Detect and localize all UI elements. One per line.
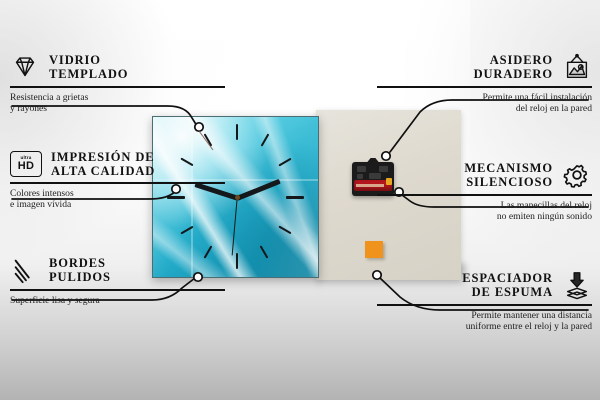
clock-tick-6 [236, 253, 238, 269]
feature-divider [377, 304, 592, 306]
feature-title-line2: DURADERO [474, 67, 553, 81]
feature-title-line1: VIDRIO [49, 53, 128, 67]
feature-title-line1: ASIDERO [474, 53, 553, 67]
feature-title-line2: PULIDOS [49, 270, 111, 284]
foam-spacer [365, 241, 383, 258]
feature-divider [10, 86, 225, 88]
feature-title-line2: DE ESPUMA [462, 285, 553, 299]
feature-title-line2: TEMPLADO [49, 67, 128, 81]
feature-desc-line2: no emiten ningún sonido [377, 211, 592, 222]
feature-espaciador-de-espuma[interactable]: ESPACIADOR DE ESPUMA Permite mantener un… [377, 270, 592, 332]
feature-title-line1: MECANISMO [464, 161, 553, 175]
feature-desc-line2: uniforme entre el reloj y la pared [377, 321, 592, 332]
feature-divider [10, 289, 225, 291]
feature-title-line2: SILENCIOSO [464, 175, 553, 189]
mechanism-notch-a [357, 166, 366, 172]
feature-title-line2: ALTA CALIDAD [51, 164, 155, 178]
clock-tick-3 [286, 196, 304, 199]
feature-desc-line1: Colores intensos [10, 188, 225, 199]
feature-desc-line1: Las manecillas del reloj [377, 200, 592, 211]
clock-tick-12 [236, 124, 238, 140]
feature-divider [10, 182, 225, 184]
feature-title-line1: ESPACIADOR [462, 271, 553, 285]
feature-bordes-pulidos[interactable]: BORDES PULIDOS Superficie lisa y segura [10, 255, 225, 306]
diamond-icon [10, 52, 40, 82]
mechanism-notch-c [357, 174, 363, 179]
picture-hanger-icon [562, 52, 592, 82]
clock-pivot [235, 195, 240, 200]
feature-impresion-alta-calidad[interactable]: ultra HD IMPRESIÓN DE ALTA CALIDAD Color… [10, 150, 225, 210]
feature-divider [377, 194, 592, 196]
ultra-hd-big-label: HD [18, 161, 35, 172]
feature-desc-line1: Permite mantener una distancia [377, 310, 592, 321]
feature-desc-line1: Permite una fácil instalación [377, 92, 592, 103]
feature-desc-line1: Resistencia a grietas [10, 92, 225, 103]
feature-desc-line1: Superficie lisa y segura [10, 295, 225, 306]
feature-title-line1: IMPRESIÓN DE [51, 150, 155, 164]
ultra-hd-icon: ultra HD [10, 151, 42, 177]
feature-desc-line2: del reloj en la pared [377, 103, 592, 114]
gear-icon [562, 160, 592, 190]
foam-spacer-icon [562, 270, 592, 300]
feature-divider [377, 86, 592, 88]
feature-asidero-duradero[interactable]: ASIDERO DURADERO Permite una fácil insta… [377, 52, 592, 114]
feature-desc-line2: y rayones [10, 103, 225, 114]
feature-desc-line2: e imagen vívida [10, 199, 225, 210]
infographic-canvas: VIDRIO TEMPLADO Resistencia a grietas y … [0, 0, 600, 400]
feature-title-line1: BORDES [49, 256, 111, 270]
polished-edges-icon [10, 255, 40, 285]
feature-vidrio-templado[interactable]: VIDRIO TEMPLADO Resistencia a grietas y … [10, 52, 225, 114]
feature-mecanismo-silencioso[interactable]: MECANISMO SILENCIOSO Las manecillas del … [377, 160, 592, 222]
